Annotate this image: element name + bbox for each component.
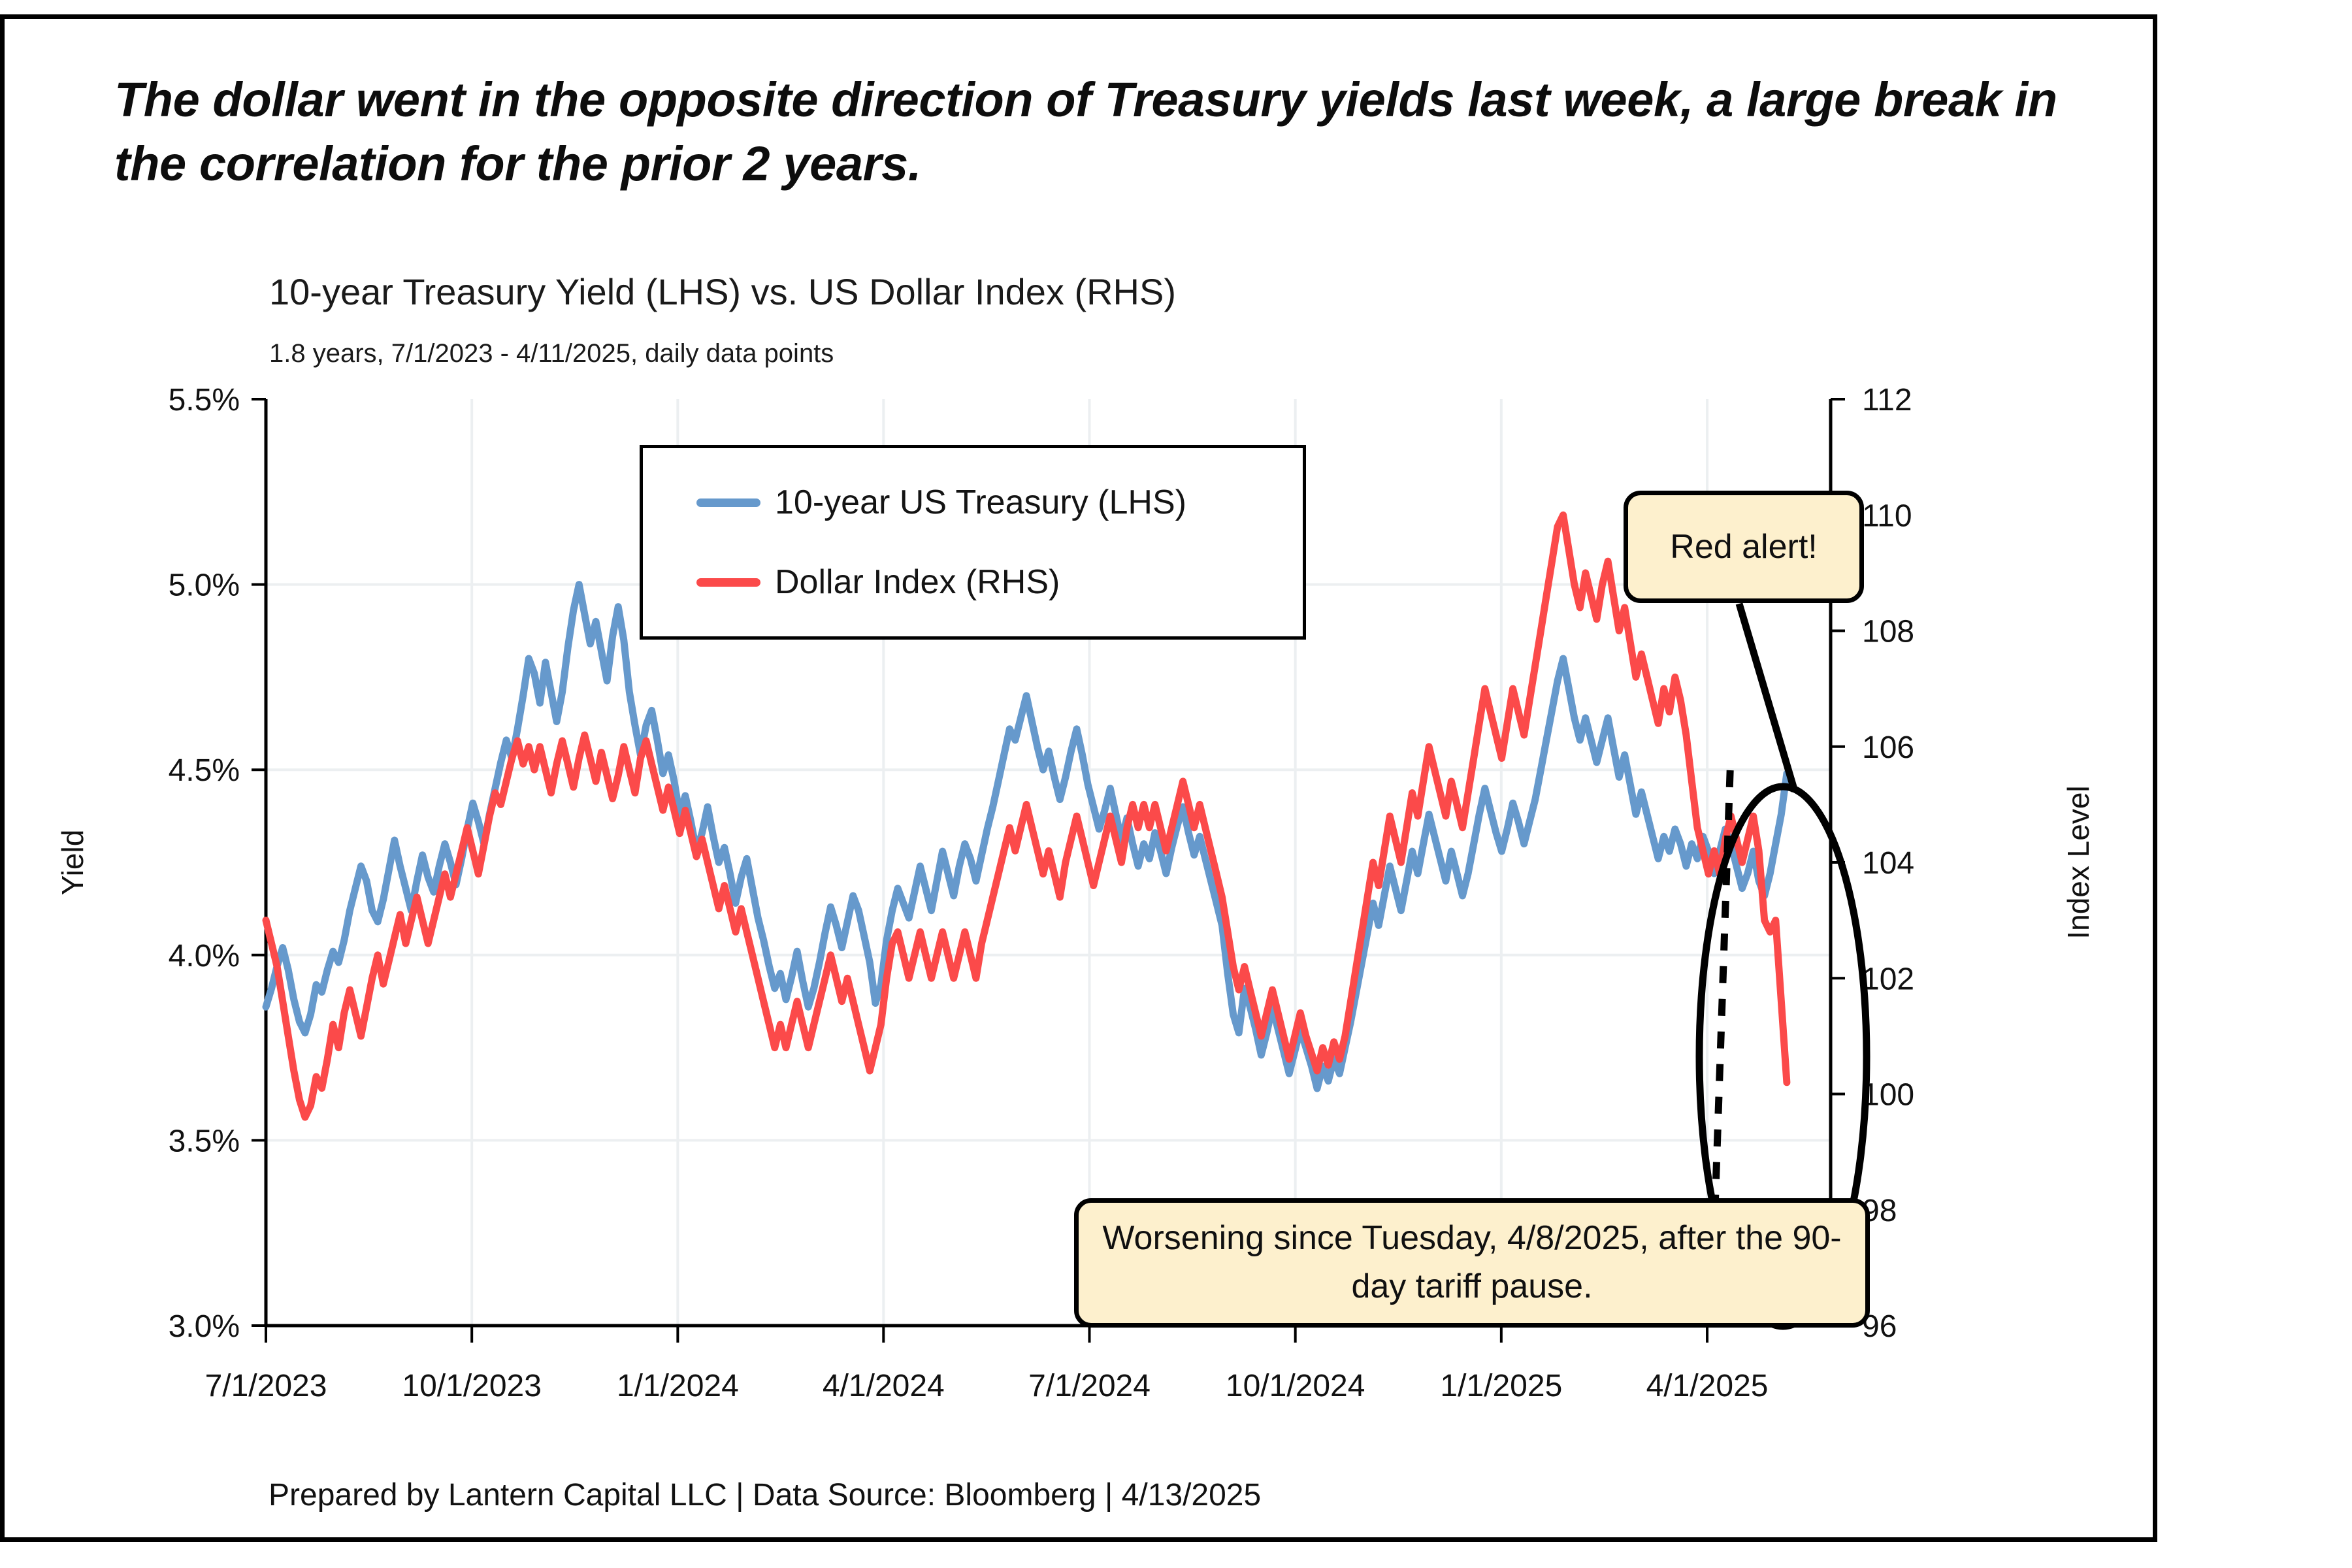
x-tick-label: 1/1/2025 xyxy=(1440,1369,1562,1403)
y-tick-label-right: 102 xyxy=(1862,962,1914,996)
legend-label-treasury: 10-year US Treasury (LHS) xyxy=(775,483,1186,522)
annotation-worsening: Worsening since Tuesday, 4/8/2025, after… xyxy=(1074,1198,1870,1328)
x-tick-label: 10/1/2023 xyxy=(402,1369,542,1403)
y-tick-label-left: 4.5% xyxy=(169,753,240,788)
y-tick-label-right: 108 xyxy=(1862,615,1914,649)
y-tick-label-right: 100 xyxy=(1862,1078,1914,1113)
chart-legend: 10-year US Treasury (LHS) Dollar Index (… xyxy=(640,445,1306,640)
x-tick-label: 10/1/2024 xyxy=(1226,1369,1365,1403)
y-axis-title-left: Yield xyxy=(56,830,90,896)
series-line-treasury xyxy=(266,585,1787,1088)
y-tick-label-left: 5.0% xyxy=(169,568,240,603)
y-tick-label-right: 106 xyxy=(1862,730,1914,765)
legend-item-treasury[interactable]: 10-year US Treasury (LHS) xyxy=(696,483,1303,522)
y-tick-label-right: 104 xyxy=(1862,846,1914,881)
legend-swatch-dollar xyxy=(696,578,760,587)
y-axis-title-right: Index Level xyxy=(2061,785,2095,939)
slide-frame: The dollar went in the opposite directio… xyxy=(0,14,2157,1542)
red-alert-leader-line xyxy=(1739,604,1795,791)
annotation-red-alert: Red alert! xyxy=(1624,491,1864,603)
y-tick-label-left: 3.0% xyxy=(169,1309,240,1344)
y-tick-label-left: 3.5% xyxy=(169,1124,240,1158)
x-tick-label: 1/1/2024 xyxy=(617,1369,739,1403)
legend-item-dollar[interactable]: Dollar Index (RHS) xyxy=(696,563,1303,602)
y-tick-label-left: 4.0% xyxy=(169,939,240,973)
y-tick-label-right: 110 xyxy=(1862,498,1912,533)
x-tick-label: 7/1/2024 xyxy=(1028,1369,1151,1403)
x-tick-label: 7/1/2023 xyxy=(205,1369,327,1403)
legend-label-dollar: Dollar Index (RHS) xyxy=(775,563,1060,602)
x-tick-label: 4/1/2024 xyxy=(823,1369,945,1403)
x-tick-label: 4/1/2025 xyxy=(1646,1369,1769,1403)
y-tick-label-right: 112 xyxy=(1862,383,1912,417)
legend-swatch-treasury xyxy=(696,498,760,507)
footer-credit: Prepared by Lantern Capital LLC | Data S… xyxy=(269,1477,1261,1513)
y-tick-label-left: 5.5% xyxy=(169,383,240,417)
